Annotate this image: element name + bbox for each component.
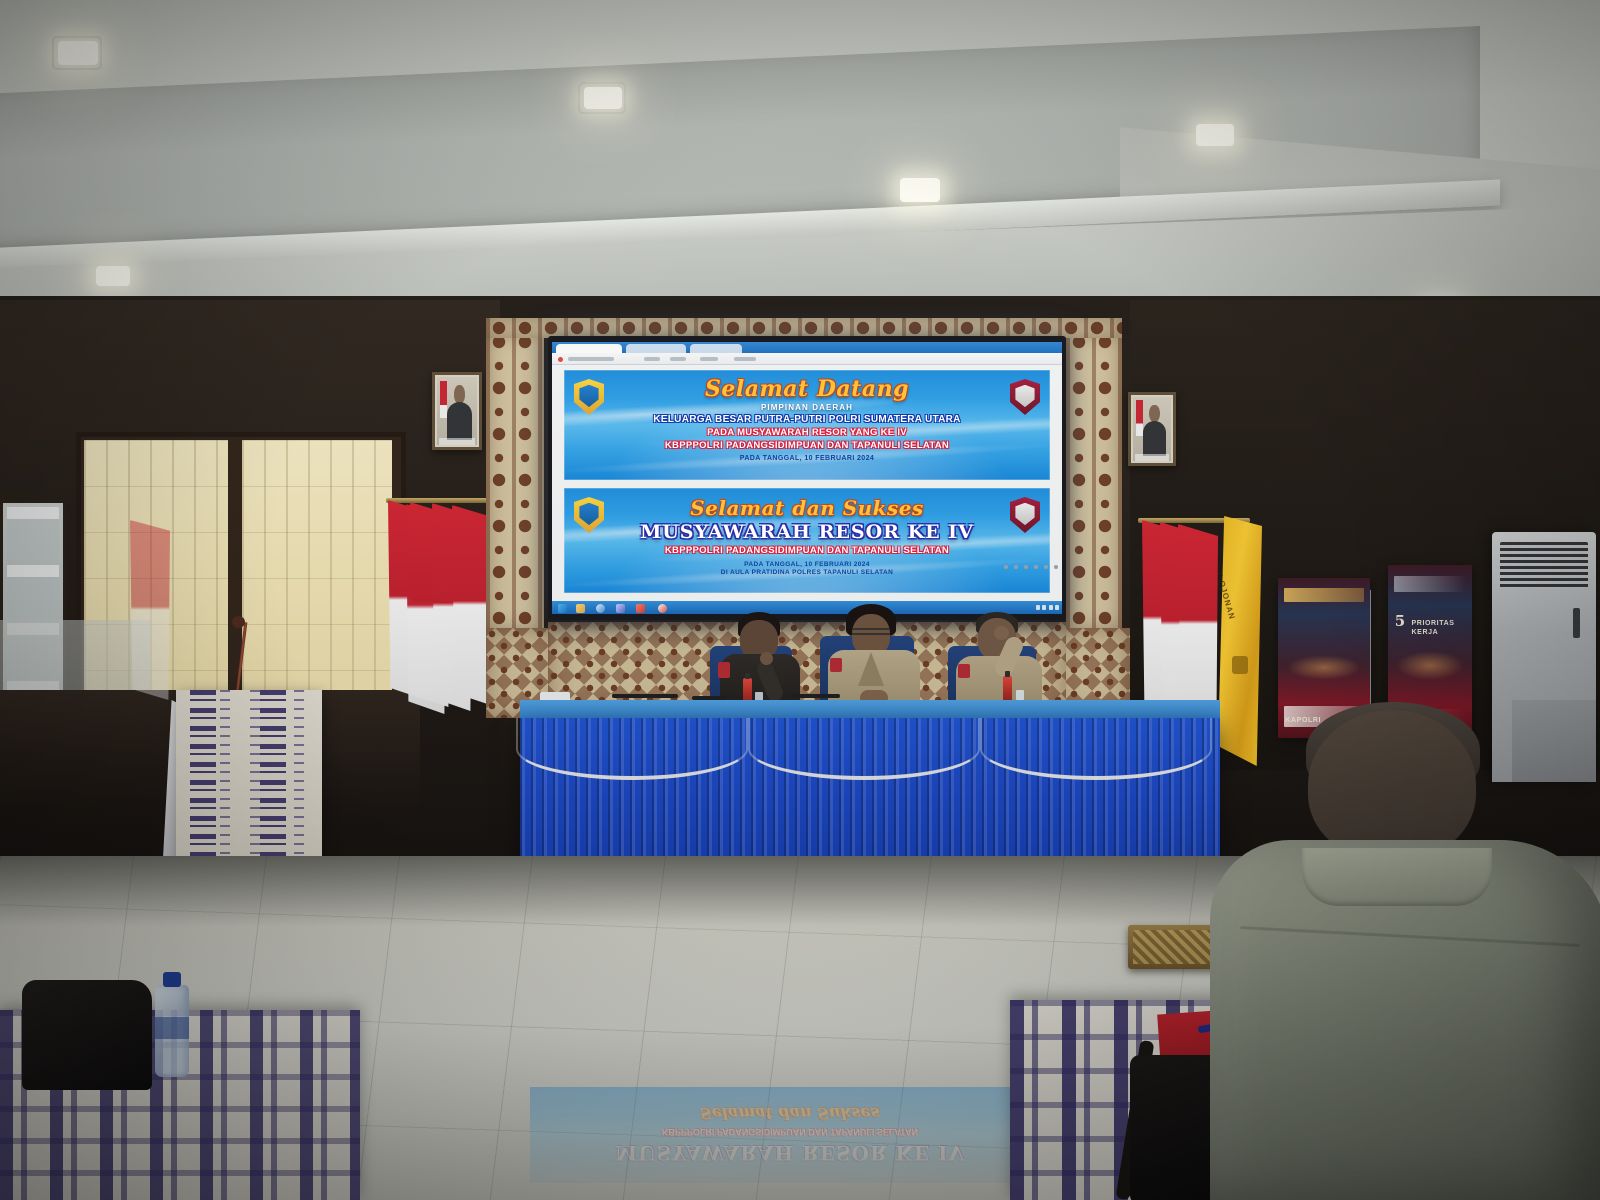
table-swag [748, 718, 980, 780]
banner-congratulations: Selamat dan Sukses MUSYAWARAH RESOR KE I… [564, 488, 1050, 593]
app-icon[interactable] [658, 604, 667, 613]
black-bag [22, 980, 152, 1090]
file-explorer-icon[interactable] [576, 604, 585, 613]
carved-panel-column-right [1066, 332, 1122, 632]
carved-panel-column-left [486, 332, 544, 632]
banner-line-4: KBPPPOLRI PADANGSIDIMPUAN DAN TAPANULI S… [564, 440, 1050, 451]
shoulder-patch [958, 664, 970, 678]
clock-icon[interactable] [1055, 605, 1059, 610]
menu-insert[interactable] [734, 357, 756, 361]
table-swag [516, 718, 748, 780]
volume-icon[interactable] [1042, 605, 1046, 610]
reflected-banner: MUSYAWARAH RESOR KE IV KBPPPOLRI PADANGS… [530, 1087, 1050, 1183]
banner2-script-line: Selamat dan Sukses [564, 496, 1050, 520]
menu-file[interactable] [644, 357, 660, 361]
browser-tab[interactable] [626, 344, 686, 353]
browser-tab[interactable] [690, 344, 742, 353]
battery-icon[interactable] [1049, 605, 1053, 610]
attendee-back-view [1210, 700, 1600, 1200]
address-bar[interactable] [568, 357, 614, 361]
screen-surface: Selamat Datang PIMPINAN DAERAH KELUARGA … [552, 342, 1062, 614]
banner-welcome: Selamat Datang PIMPINAN DAERAH KELUARGA … [564, 370, 1050, 480]
banner2-headline: MUSYAWARAH RESOR KE IV [564, 521, 1050, 543]
reflected-subline: KBPPPOLRI PADANGSIDIMPUAN DAN TAPANULI S… [662, 1128, 918, 1138]
banner2-venue: DI AULA PRATIDINA POLRES TAPANULI SELATA… [564, 569, 1050, 576]
flag-seal-icon [1232, 656, 1248, 674]
eyeglasses-icon [852, 628, 890, 635]
downlight-2 [584, 87, 622, 109]
banner2-date: PADA TANGGAL, 10 FEBRUARI 2024 [564, 561, 1050, 568]
ac-grille [1500, 542, 1588, 588]
shoulder-patch [830, 658, 842, 672]
water-bottle [155, 985, 189, 1077]
downlight-4 [96, 266, 130, 286]
window-blind [242, 440, 392, 724]
menu-view[interactable] [700, 357, 718, 361]
ceiling [0, 0, 1600, 340]
store-icon[interactable] [616, 604, 625, 613]
shoulder-patch [718, 662, 730, 678]
official-portrait-left [432, 372, 482, 450]
panelist-center [824, 604, 924, 708]
collar [1302, 848, 1492, 906]
indonesian-flag [1178, 524, 1218, 724]
browser-toolbar[interactable] [552, 353, 1062, 365]
podium-microphone-icon [232, 616, 245, 628]
downlight-5 [900, 178, 940, 202]
reflected-headline: MUSYAWARAH RESOR KE IV [615, 1142, 965, 1166]
browser-tab-strip[interactable] [552, 342, 1062, 353]
banner-line-3: PADA MUSYAWARAH RESOR YANG KE IV [564, 427, 1050, 438]
hand [994, 626, 1009, 640]
reflected-script: Selamat dan Sukses [700, 1105, 880, 1124]
banner-line-1: PIMPINAN DAERAH [564, 403, 1050, 412]
indonesian-flag-reflection [130, 520, 170, 700]
browser-tab[interactable] [556, 344, 622, 353]
meeting-hall-photo: Selamat Datang PIMPINAN DAERAH KELUARGA … [0, 0, 1600, 1200]
media-icon[interactable] [636, 604, 645, 613]
menu-edit[interactable] [670, 357, 686, 361]
panelist-right [954, 612, 1050, 708]
network-icon[interactable] [1036, 605, 1040, 610]
document-canvas: Selamat Datang PIMPINAN DAERAH KELUARGA … [552, 365, 1062, 614]
official-portrait-right [1128, 392, 1176, 466]
downlight-1 [58, 41, 98, 65]
banner2-subline: KBPPPOLRI PADANGSIDIMPUAN DAN TAPANULI S… [564, 545, 1050, 556]
table-swag [980, 718, 1212, 780]
downlight-3 [1196, 124, 1234, 146]
banner-line-2: KELUARGA BESAR PUTRA-PUTRI POLRI SUMATER… [564, 414, 1050, 425]
priority-number: 5 [1395, 612, 1405, 630]
projection-screen: Selamat Datang PIMPINAN DAERAH KELUARGA … [548, 336, 1066, 620]
carved-panel-header [486, 318, 1122, 338]
drink-bottle [1003, 676, 1012, 702]
banner-date: PADA TANGGAL, 10 FEBRUARI 2024 [564, 455, 1050, 462]
system-tray[interactable] [1036, 605, 1060, 610]
desk-microphone [612, 694, 678, 698]
desk-microphone [790, 694, 840, 698]
record-dot-icon [558, 357, 563, 362]
priority-label: PRIORITAS KERJA [1412, 619, 1472, 637]
windows-start-icon[interactable] [558, 604, 567, 613]
ac-display-icon [1573, 608, 1580, 638]
chrome-icon[interactable] [596, 604, 605, 613]
hand [760, 652, 773, 665]
banner-script-line: Selamat Datang [564, 376, 1050, 402]
